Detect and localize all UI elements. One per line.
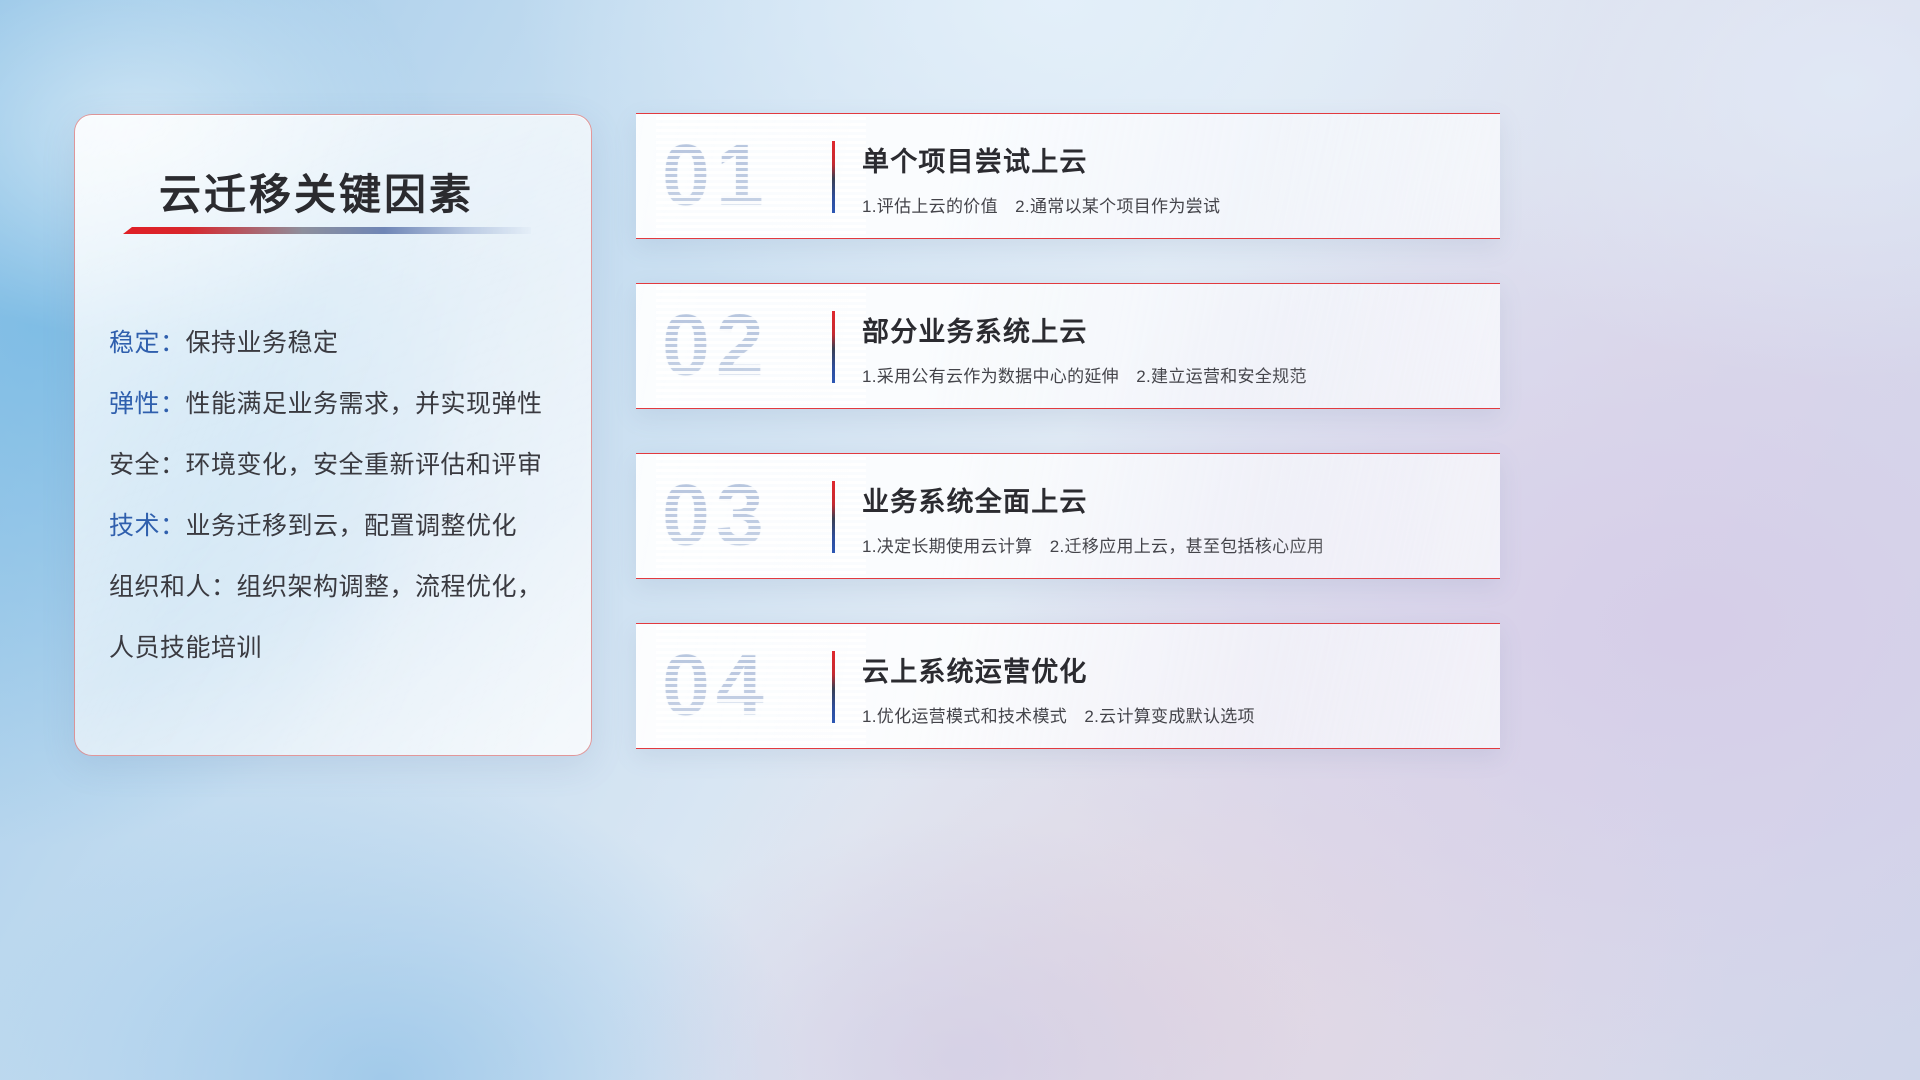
list-item-key: 组织和人： [109,573,237,601]
stage-number: 04 [662,637,770,736]
stage-number: 01 [662,127,770,226]
list-item: 弹性：性能满足业务需求，并实现弹性 [109,374,571,435]
stage-title: 部分业务系统上云 [862,310,1482,349]
list-item: 技术：业务迁移到云，配置调整优化 [109,496,571,557]
stage-card-body: 单个项目尝试上云 1.评估上云的价值 2.通常以某个项目作为尝试 [862,140,1482,217]
list-item-text: 人员技能培训 [109,634,262,662]
stage-card-body: 云上系统运营优化 1.优化运营模式和技术模式 2.云计算变成默认选项 [862,650,1482,727]
accent-divider [832,651,835,723]
stage-number: 02 [662,297,770,396]
list-item: 稳定：保持业务稳定 [109,313,571,374]
stage-card[interactable]: 01 单个项目尝试上云 1.评估上云的价值 2.通常以某个项目作为尝试 [636,113,1500,239]
accent-divider [832,141,835,213]
list-item: 安全：环境变化，安全重新评估和评审 [109,435,571,496]
list-item-key: 安全： [109,451,186,479]
accent-divider [832,311,835,383]
list-item-key: 弹性： [109,390,186,418]
list-item-text: 业务迁移到云，配置调整优化 [186,512,518,540]
accent-divider [832,481,835,553]
stage-card[interactable]: 03 业务系统全面上云 1.决定长期使用云计算 2.迁移应用上云，甚至包括核心应… [636,453,1500,579]
stage-number: 03 [662,467,770,566]
stage-title: 云上系统运营优化 [862,650,1482,689]
stage-description: 1.评估上云的价值 2.通常以某个项目作为尝试 [862,192,1482,217]
stage-card-body: 业务系统全面上云 1.决定长期使用云计算 2.迁移应用上云，甚至包括核心应用 [862,480,1482,557]
title-underline-rule [123,227,531,234]
list-item: 人员技能培训 [109,618,571,679]
stage-card[interactable]: 02 部分业务系统上云 1.采用公有云作为数据中心的延伸 2.建立运营和安全规范 [636,283,1500,409]
key-factors-list: 稳定：保持业务稳定 弹性：性能满足业务需求，并实现弹性 安全：环境变化，安全重新… [109,313,571,679]
stage-title: 单个项目尝试上云 [862,140,1482,179]
migration-stage-cards: 01 单个项目尝试上云 1.评估上云的价值 2.通常以某个项目作为尝试 02 部… [636,113,1500,793]
list-item-text: 保持业务稳定 [186,329,339,357]
stage-description: 1.采用公有云作为数据中心的延伸 2.建立运营和安全规范 [862,362,1482,387]
key-factors-panel: 云迁移关键因素 稳定：保持业务稳定 弹性：性能满足业务需求，并实现弹性 安全：环… [74,114,592,756]
list-item-text: 环境变化，安全重新评估和评审 [186,451,543,479]
list-item-text: 性能满足业务需求，并实现弹性 [186,390,543,418]
stage-card-body: 部分业务系统上云 1.采用公有云作为数据中心的延伸 2.建立运营和安全规范 [862,310,1482,387]
list-item-text: 组织架构调整，流程优化， [237,573,543,601]
stage-description: 1.优化运营模式和技术模式 2.云计算变成默认选项 [862,702,1482,727]
list-item-key: 稳定： [109,329,186,357]
stage-card[interactable]: 04 云上系统运营优化 1.优化运营模式和技术模式 2.云计算变成默认选项 [636,623,1500,749]
stage-title: 业务系统全面上云 [862,480,1482,519]
list-item-key: 技术： [109,512,186,540]
list-item: 组织和人：组织架构调整，流程优化， [109,557,571,618]
stage-description: 1.决定长期使用云计算 2.迁移应用上云，甚至包括核心应用 [862,532,1482,557]
page-title: 云迁移关键因素 [159,161,474,222]
